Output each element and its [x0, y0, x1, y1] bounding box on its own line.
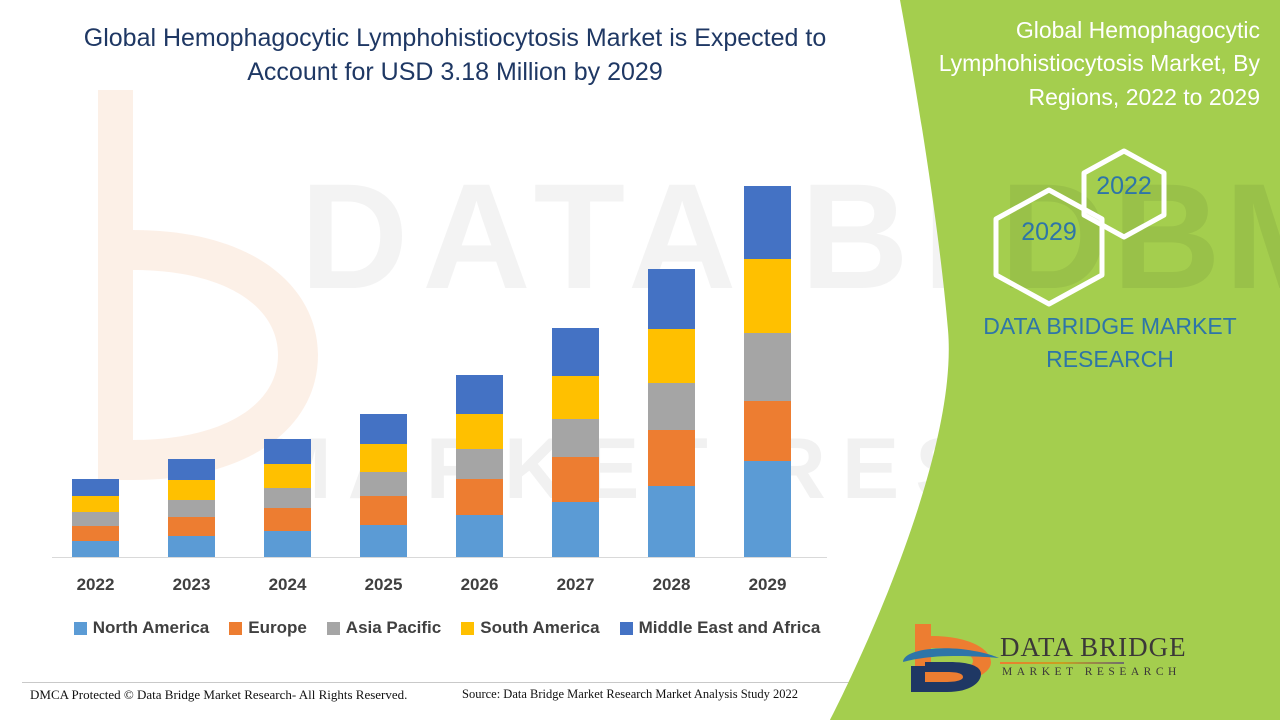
bar-segment — [456, 515, 503, 557]
bar-segment — [360, 414, 407, 444]
x-axis-label: 2028 — [624, 575, 720, 595]
bar-segment — [648, 430, 695, 486]
bar-segment — [456, 479, 503, 515]
bar-segment — [168, 480, 215, 500]
bar-segment — [744, 401, 791, 461]
x-axis-label: 2025 — [336, 575, 432, 595]
footer-source-note: Source: Data Bridge Market Research Mark… — [462, 687, 798, 702]
bar-segment — [456, 375, 503, 414]
bar-segment — [552, 457, 599, 502]
bar-segment — [744, 259, 791, 333]
bar-segment — [168, 459, 215, 480]
bar-segment — [456, 449, 503, 479]
bar-column — [72, 479, 119, 557]
bar-segment — [456, 414, 503, 449]
bar-segment — [264, 508, 311, 531]
bar-segment — [552, 419, 599, 457]
bar-segment — [360, 472, 407, 496]
x-axis-label: 2024 — [240, 575, 336, 595]
bar-column — [552, 328, 599, 557]
legend-swatch — [74, 622, 87, 635]
bar-segment — [648, 486, 695, 557]
footer-dmca-notice: DMCA Protected © Data Bridge Market Rese… — [30, 687, 407, 703]
bar-column — [360, 414, 407, 557]
bar-segment — [552, 328, 599, 376]
legend-label: Asia Pacific — [346, 618, 441, 638]
bar-segment — [360, 496, 407, 525]
bar-segment — [264, 464, 311, 488]
bar-column — [744, 186, 791, 557]
legend-swatch — [461, 622, 474, 635]
legend-swatch — [620, 622, 633, 635]
footer-divider — [22, 682, 852, 683]
legend-label: South America — [480, 618, 599, 638]
bar-segment — [72, 512, 119, 526]
panel-title: Global Hemophagocytic Lymphohistiocytosi… — [850, 14, 1270, 114]
legend-swatch — [327, 622, 340, 635]
hexagon-end-year-label: 2029 — [988, 218, 1110, 247]
bar-segment — [72, 496, 119, 512]
chart-plot-area: 20222023202420252026202720282029 — [0, 0, 860, 720]
legend-label: Middle East and Africa — [639, 618, 821, 638]
brand-name: DATA BRIDGE MARKET RESEARCH — [945, 310, 1275, 377]
logo-divider — [1000, 662, 1124, 664]
bar-segment — [168, 500, 215, 517]
bar-segment — [360, 525, 407, 557]
x-axis-label: 2026 — [432, 575, 528, 595]
bar-segment — [648, 329, 695, 383]
bar-column — [456, 375, 503, 557]
logo-title: DATA BRIDGE — [1000, 632, 1187, 663]
legend-label: Europe — [248, 618, 307, 638]
bar-segment — [72, 526, 119, 541]
infographic-root: DATA BRIDGE MARKET RESEARCH Global Hemop… — [0, 0, 1280, 720]
x-axis-label: 2023 — [144, 575, 240, 595]
bar-segment — [264, 439, 311, 464]
legend-swatch — [229, 622, 242, 635]
hexagon-end-year — [988, 186, 1110, 308]
bar-segment — [168, 536, 215, 557]
legend-item[interactable]: South America — [461, 618, 599, 638]
legend-item[interactable]: North America — [74, 618, 210, 638]
bar-segment — [744, 186, 791, 259]
bar-segment — [648, 383, 695, 430]
logo-subtitle: MARKET RESEARCH — [1002, 666, 1181, 678]
bar-segment — [168, 517, 215, 536]
bar-segment — [552, 376, 599, 419]
x-axis-label: 2022 — [48, 575, 144, 595]
bar-column — [648, 269, 695, 557]
x-axis-line — [52, 557, 827, 558]
bar-segment — [72, 541, 119, 557]
legend-item[interactable]: Middle East and Africa — [620, 618, 821, 638]
legend-label: North America — [93, 618, 210, 638]
x-axis-label: 2029 — [720, 575, 816, 595]
bar-column — [264, 439, 311, 557]
bar-segment — [552, 502, 599, 557]
bar-segment — [360, 444, 407, 472]
bar-segment — [744, 461, 791, 557]
legend-item[interactable]: Europe — [229, 618, 307, 638]
bar-column — [168, 459, 215, 557]
bar-segment — [264, 488, 311, 508]
chart-legend: North AmericaEuropeAsia PacificSouth Ame… — [52, 618, 842, 638]
bar-segment — [648, 269, 695, 329]
legend-item[interactable]: Asia Pacific — [327, 618, 441, 638]
bar-segment — [264, 531, 311, 557]
bar-segment — [72, 479, 119, 496]
bar-segment — [744, 333, 791, 401]
x-axis-label: 2027 — [528, 575, 624, 595]
